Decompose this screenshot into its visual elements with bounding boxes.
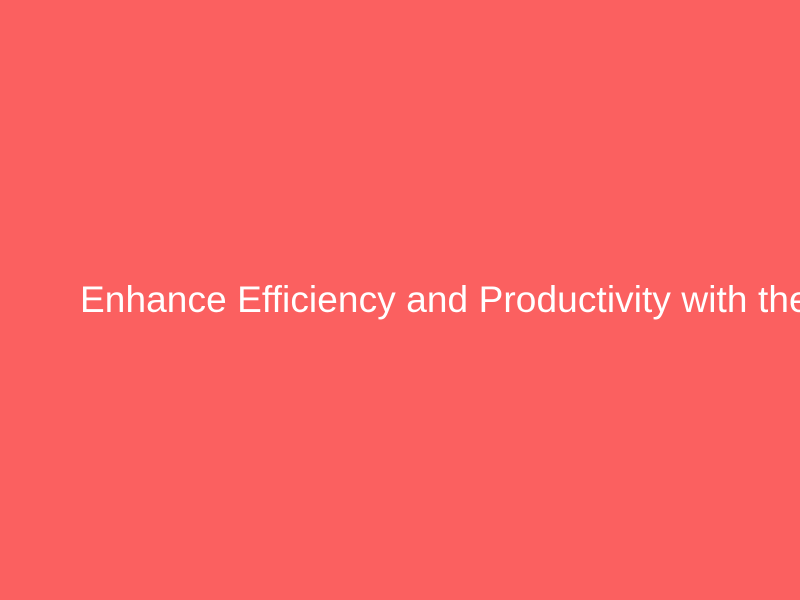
title-card: Enhance Efficiency and Productivity with… [0, 0, 800, 600]
page-title: Enhance Efficiency and Productivity with… [80, 276, 720, 324]
headline-block: Enhance Efficiency and Productivity with… [40, 276, 760, 324]
